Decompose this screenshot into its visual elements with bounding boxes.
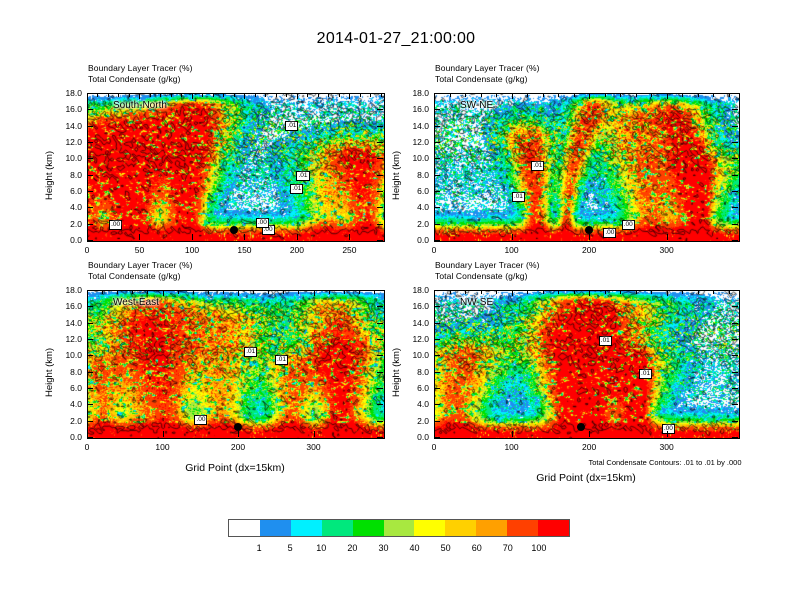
field-raster-south-north <box>88 94 384 241</box>
y-tick-mark <box>434 323 440 324</box>
y-tick-mark <box>732 207 738 208</box>
figure-title: 2014-01-27_21:00:00 <box>0 30 792 48</box>
colorbar-tick-label: 30 <box>378 543 388 553</box>
y-tick-mark <box>732 240 738 241</box>
y-tick-mark <box>732 109 738 110</box>
y-tick-label: 8.0 <box>51 170 82 180</box>
x-minor-tick <box>682 290 683 294</box>
x-minor-tick <box>527 93 528 97</box>
y-tick-mark <box>87 372 93 373</box>
x-tick-label: 250 <box>342 245 356 255</box>
y-tick-mark <box>434 437 440 438</box>
colorbar <box>228 519 570 537</box>
y-tick-label: 10.0 <box>398 153 429 163</box>
y-tick-mark <box>87 158 93 159</box>
y-tick-label: 4.0 <box>398 202 429 212</box>
x-tick-mark <box>238 431 239 437</box>
y-tick-mark <box>434 306 440 307</box>
x-minor-tick <box>713 290 714 294</box>
y-tick-label: 14.0 <box>398 318 429 328</box>
x-minor-tick <box>329 290 330 294</box>
x-minor-tick <box>87 290 88 294</box>
x-minor-tick <box>163 290 164 294</box>
x-minor-tick <box>434 290 435 294</box>
contour-label: .01 <box>512 192 525 202</box>
x-minor-tick <box>450 93 451 97</box>
y-tick-label: 14.0 <box>51 318 82 328</box>
x-tick-mark <box>244 234 245 240</box>
contour-label: .01 <box>639 369 652 379</box>
x-minor-tick <box>129 93 130 97</box>
colorbar-swatch <box>260 520 291 536</box>
contour-label: .00 <box>622 220 635 230</box>
y-tick-mark <box>434 142 440 143</box>
y-tick-mark <box>732 191 738 192</box>
field-raster-sw-ne <box>435 94 739 241</box>
x-tick-label: 100 <box>504 442 518 452</box>
y-tick-mark <box>87 109 93 110</box>
y-tick-label: 8.0 <box>398 367 429 377</box>
y-tick-mark <box>87 339 93 340</box>
y-tick-label: 2.0 <box>51 219 82 229</box>
y-tick-mark <box>434 404 440 405</box>
x-minor-tick <box>465 93 466 97</box>
y-axis-label: Height (km) <box>44 348 55 397</box>
y-tick-mark <box>87 323 93 324</box>
header-condensate-line: Total Condensate (g/kg) <box>88 74 193 85</box>
y-tick-mark <box>732 323 738 324</box>
y-tick-label: 12.0 <box>51 137 82 147</box>
x-minor-tick <box>682 93 683 97</box>
y-tick-label: 12.0 <box>398 334 429 344</box>
y-tick-label: 4.0 <box>51 202 82 212</box>
x-minor-tick <box>132 290 133 294</box>
contour-footnote: Total Condensate Contours: .01 to .01 by… <box>588 458 741 467</box>
x-minor-tick <box>512 93 513 97</box>
header-condensate-line: Total Condensate (g/kg) <box>435 271 540 282</box>
contour-label: .00 <box>662 424 675 434</box>
x-minor-tick <box>589 93 590 97</box>
y-tick-mark <box>87 175 93 176</box>
contour-label: .01 <box>244 347 257 357</box>
location-marker-south-north <box>230 226 238 234</box>
y-tick-mark <box>732 126 738 127</box>
y-tick-mark <box>434 126 440 127</box>
panel-header-west-east: Boundary Layer Tracer (%)Total Condensat… <box>88 260 193 281</box>
y-tick-label: 16.0 <box>398 301 429 311</box>
x-tick-label: 50 <box>135 245 144 255</box>
y-tick-label: 12.0 <box>51 334 82 344</box>
colorbar-tick-label: 50 <box>441 543 451 553</box>
y-tick-label: 16.0 <box>398 104 429 114</box>
y-tick-mark <box>732 158 738 159</box>
panel-label-south-north: South-North <box>113 100 167 111</box>
y-tick-label: 18.0 <box>398 88 429 98</box>
y-tick-mark <box>87 388 93 389</box>
y-tick-mark <box>377 290 383 291</box>
y-tick-mark <box>377 175 383 176</box>
colorbar-tick-label: 40 <box>410 543 420 553</box>
y-tick-mark <box>87 207 93 208</box>
y-tick-label: 0.0 <box>398 235 429 245</box>
y-tick-mark <box>732 372 738 373</box>
x-tick-label: 100 <box>185 245 199 255</box>
colorbar-swatch <box>476 520 507 536</box>
colorbar-swatch <box>507 520 538 536</box>
y-tick-mark <box>434 109 440 110</box>
y-tick-mark <box>434 339 440 340</box>
y-tick-mark <box>377 142 383 143</box>
contour-label: .01 <box>290 184 303 194</box>
plot-area-south-north[interactable] <box>87 93 385 242</box>
x-minor-tick <box>651 290 652 294</box>
colorbar-swatch <box>291 520 322 536</box>
x-tick-label: 300 <box>660 245 674 255</box>
x-minor-tick <box>698 93 699 97</box>
x-minor-tick <box>574 93 575 97</box>
x-minor-tick <box>729 93 730 97</box>
panel-header-sw-ne: Boundary Layer Tracer (%)Total Condensat… <box>435 63 540 84</box>
x-minor-tick <box>605 290 606 294</box>
y-tick-label: 8.0 <box>51 367 82 377</box>
x-tick-label: 200 <box>290 245 304 255</box>
x-minor-tick <box>349 93 350 97</box>
x-tick-label: 0 <box>432 245 437 255</box>
x-minor-tick <box>208 290 209 294</box>
x-minor-tick <box>314 290 315 294</box>
x-axis-label: Grid Point (dx=15km) <box>185 462 285 474</box>
y-tick-label: 0.0 <box>51 432 82 442</box>
x-minor-tick <box>238 290 239 294</box>
colorbar-tick-label: 70 <box>503 543 513 553</box>
x-minor-tick <box>181 93 182 97</box>
contour-label: .01 <box>285 121 298 131</box>
y-tick-mark <box>87 421 93 422</box>
x-minor-tick <box>543 93 544 97</box>
x-minor-tick <box>147 290 148 294</box>
y-axis-label: Height (km) <box>391 348 402 397</box>
x-minor-tick <box>381 93 382 97</box>
x-minor-tick <box>255 93 256 97</box>
contour-label: .01 <box>275 355 288 365</box>
x-minor-tick <box>481 290 482 294</box>
header-condensate-line: Total Condensate (g/kg) <box>88 271 193 282</box>
y-tick-mark <box>377 323 383 324</box>
x-tick-mark <box>667 431 668 437</box>
x-minor-tick <box>558 93 559 97</box>
y-tick-label: 10.0 <box>398 350 429 360</box>
colorbar-swatch <box>229 520 260 536</box>
x-minor-tick <box>465 290 466 294</box>
x-minor-tick <box>117 290 118 294</box>
y-tick-mark <box>732 290 738 291</box>
y-tick-mark <box>377 207 383 208</box>
x-tick-label: 0 <box>432 442 437 452</box>
x-minor-tick <box>370 93 371 97</box>
y-tick-mark <box>87 126 93 127</box>
x-tick-label: 0 <box>85 442 90 452</box>
y-tick-label: 0.0 <box>398 432 429 442</box>
header-tracer-line: Boundary Layer Tracer (%) <box>435 260 540 271</box>
colorbar-swatch <box>538 520 569 536</box>
y-tick-mark <box>434 421 440 422</box>
x-minor-tick <box>605 93 606 97</box>
y-tick-mark <box>87 437 93 438</box>
x-minor-tick <box>344 290 345 294</box>
contour-label: .01 <box>531 161 544 171</box>
y-tick-mark <box>377 158 383 159</box>
x-tick-mark <box>297 234 298 240</box>
x-minor-tick <box>496 290 497 294</box>
y-tick-mark <box>377 224 383 225</box>
x-minor-tick <box>253 290 254 294</box>
header-tracer-line: Boundary Layer Tracer (%) <box>88 63 193 74</box>
y-tick-label: 0.0 <box>51 235 82 245</box>
x-tick-mark <box>512 234 513 240</box>
x-minor-tick <box>97 93 98 97</box>
x-minor-tick <box>286 93 287 97</box>
y-tick-label: 2.0 <box>398 219 429 229</box>
y-tick-mark <box>87 404 93 405</box>
x-minor-tick <box>620 93 621 97</box>
panel-header-south-north: Boundary Layer Tracer (%)Total Condensat… <box>88 63 193 84</box>
y-tick-label: 6.0 <box>398 383 429 393</box>
field-raster-west-east <box>88 291 384 438</box>
y-tick-mark <box>87 142 93 143</box>
y-tick-mark <box>377 421 383 422</box>
y-tick-label: 14.0 <box>398 121 429 131</box>
field-raster-nw-se <box>435 291 739 438</box>
x-tick-mark <box>434 234 435 240</box>
y-tick-mark <box>377 388 383 389</box>
contour-label: .01 <box>599 336 612 346</box>
y-tick-mark <box>377 191 383 192</box>
x-minor-tick <box>636 290 637 294</box>
colorbar-tick-label: 100 <box>531 543 546 553</box>
y-tick-mark <box>377 240 383 241</box>
x-minor-tick <box>450 290 451 294</box>
y-tick-mark <box>732 93 738 94</box>
x-minor-tick <box>171 93 172 97</box>
x-tick-label: 150 <box>237 245 251 255</box>
header-tracer-line: Boundary Layer Tracer (%) <box>88 260 193 271</box>
x-minor-tick <box>729 290 730 294</box>
x-tick-mark <box>512 431 513 437</box>
y-axis-label: Height (km) <box>44 151 55 200</box>
x-minor-tick <box>234 93 235 97</box>
x-minor-tick <box>118 93 119 97</box>
x-minor-tick <box>558 290 559 294</box>
x-tick-mark <box>192 234 193 240</box>
y-tick-label: 12.0 <box>398 137 429 147</box>
y-tick-label: 2.0 <box>51 416 82 426</box>
x-minor-tick <box>192 93 193 97</box>
y-tick-label: 4.0 <box>51 399 82 409</box>
x-minor-tick <box>434 93 435 97</box>
plot-area-nw-se[interactable] <box>434 290 740 439</box>
x-minor-tick <box>102 290 103 294</box>
x-minor-tick <box>150 93 151 97</box>
x-minor-tick <box>276 93 277 97</box>
x-axis-label: Grid Point (dx=15km) <box>536 472 636 484</box>
x-tick-label: 200 <box>582 245 596 255</box>
x-minor-tick <box>574 290 575 294</box>
y-tick-label: 16.0 <box>51 104 82 114</box>
x-minor-tick <box>193 290 194 294</box>
y-tick-mark <box>87 240 93 241</box>
x-minor-tick <box>667 93 668 97</box>
y-tick-label: 18.0 <box>51 285 82 295</box>
y-tick-mark <box>377 372 383 373</box>
x-tick-mark <box>87 431 88 437</box>
panel-header-nw-se: Boundary Layer Tracer (%)Total Condensat… <box>435 260 540 281</box>
y-tick-mark <box>377 404 383 405</box>
panel-label-sw-ne: SW-NE <box>460 100 493 111</box>
x-minor-tick <box>359 290 360 294</box>
y-tick-label: 8.0 <box>398 170 429 180</box>
y-tick-label: 18.0 <box>51 88 82 98</box>
x-minor-tick <box>360 93 361 97</box>
y-tick-mark <box>377 109 383 110</box>
x-tick-label: 300 <box>306 442 320 452</box>
x-tick-mark <box>434 431 435 437</box>
x-minor-tick <box>636 93 637 97</box>
x-tick-label: 200 <box>582 442 596 452</box>
y-tick-label: 6.0 <box>51 383 82 393</box>
y-tick-label: 6.0 <box>398 186 429 196</box>
x-tick-label: 0 <box>85 245 90 255</box>
x-minor-tick <box>223 290 224 294</box>
y-tick-mark <box>732 355 738 356</box>
y-tick-mark <box>434 158 440 159</box>
x-minor-tick <box>298 290 299 294</box>
colorbar-swatch <box>384 520 415 536</box>
x-minor-tick <box>265 93 266 97</box>
y-tick-label: 10.0 <box>51 153 82 163</box>
y-tick-label: 6.0 <box>51 186 82 196</box>
colorbar-swatches <box>228 519 570 537</box>
y-tick-mark <box>732 404 738 405</box>
x-minor-tick <box>297 93 298 97</box>
y-tick-mark <box>434 224 440 225</box>
x-minor-tick <box>651 93 652 97</box>
y-tick-mark <box>377 126 383 127</box>
y-tick-label: 2.0 <box>398 416 429 426</box>
y-tick-mark <box>87 191 93 192</box>
y-tick-mark <box>732 175 738 176</box>
x-minor-tick <box>160 93 161 97</box>
y-tick-label: 16.0 <box>51 301 82 311</box>
x-minor-tick <box>328 93 329 97</box>
x-minor-tick <box>543 290 544 294</box>
y-tick-mark <box>434 240 440 241</box>
x-tick-mark <box>589 234 590 240</box>
contour-label: .00 <box>194 415 207 425</box>
x-minor-tick <box>527 290 528 294</box>
x-minor-tick <box>307 93 308 97</box>
x-minor-tick <box>339 93 340 97</box>
y-axis-label: Height (km) <box>391 151 402 200</box>
x-tick-label: 300 <box>660 442 674 452</box>
y-tick-mark <box>434 191 440 192</box>
y-tick-mark <box>434 388 440 389</box>
plot-area-west-east[interactable] <box>87 290 385 439</box>
y-tick-mark <box>732 306 738 307</box>
contour-label: .00 <box>109 220 122 230</box>
x-minor-tick <box>667 290 668 294</box>
y-tick-mark <box>732 224 738 225</box>
y-tick-mark <box>732 437 738 438</box>
y-tick-mark <box>434 355 440 356</box>
x-minor-tick <box>244 93 245 97</box>
colorbar-tick-label: 5 <box>288 543 293 553</box>
y-tick-mark <box>732 339 738 340</box>
y-tick-mark <box>377 355 383 356</box>
y-tick-mark <box>732 388 738 389</box>
colorbar-swatch <box>353 520 384 536</box>
panel-label-west-east: West-East <box>113 297 159 308</box>
x-minor-tick <box>268 290 269 294</box>
y-tick-mark <box>377 306 383 307</box>
x-tick-label: 100 <box>504 245 518 255</box>
y-tick-mark <box>87 224 93 225</box>
x-minor-tick <box>589 290 590 294</box>
x-minor-tick <box>374 290 375 294</box>
x-minor-tick <box>283 290 284 294</box>
x-minor-tick <box>139 93 140 97</box>
x-tick-mark <box>589 431 590 437</box>
y-tick-mark <box>434 175 440 176</box>
colorbar-swatch <box>414 520 445 536</box>
x-minor-tick <box>87 93 88 97</box>
x-tick-mark <box>314 431 315 437</box>
contour-label: .01 <box>296 171 309 181</box>
colorbar-tick-label: 1 <box>257 543 262 553</box>
y-tick-label: 10.0 <box>51 350 82 360</box>
x-tick-label: 100 <box>155 442 169 452</box>
x-minor-tick <box>698 290 699 294</box>
y-tick-label: 18.0 <box>398 285 429 295</box>
x-tick-mark <box>139 234 140 240</box>
y-tick-mark <box>434 372 440 373</box>
x-minor-tick <box>318 93 319 97</box>
figure-canvas: 2014-01-27_21:00:00 Boundary Layer Trace… <box>0 0 792 612</box>
x-minor-tick <box>713 93 714 97</box>
plot-area-sw-ne[interactable] <box>434 93 740 242</box>
y-tick-label: 4.0 <box>398 399 429 409</box>
y-tick-mark <box>87 306 93 307</box>
y-tick-mark <box>732 421 738 422</box>
x-minor-tick <box>512 290 513 294</box>
x-minor-tick <box>496 93 497 97</box>
colorbar-tick-label: 10 <box>316 543 326 553</box>
x-minor-tick <box>108 93 109 97</box>
y-tick-label: 14.0 <box>51 121 82 131</box>
header-condensate-line: Total Condensate (g/kg) <box>435 74 540 85</box>
colorbar-swatch <box>322 520 353 536</box>
y-tick-mark <box>434 207 440 208</box>
x-tick-mark <box>87 234 88 240</box>
y-tick-mark <box>377 437 383 438</box>
x-minor-tick <box>620 290 621 294</box>
y-tick-mark <box>732 142 738 143</box>
colorbar-swatch <box>445 520 476 536</box>
colorbar-tick-label: 60 <box>472 543 482 553</box>
location-marker-west-east <box>234 423 242 431</box>
y-tick-mark <box>87 355 93 356</box>
x-tick-mark <box>667 234 668 240</box>
x-minor-tick <box>178 290 179 294</box>
